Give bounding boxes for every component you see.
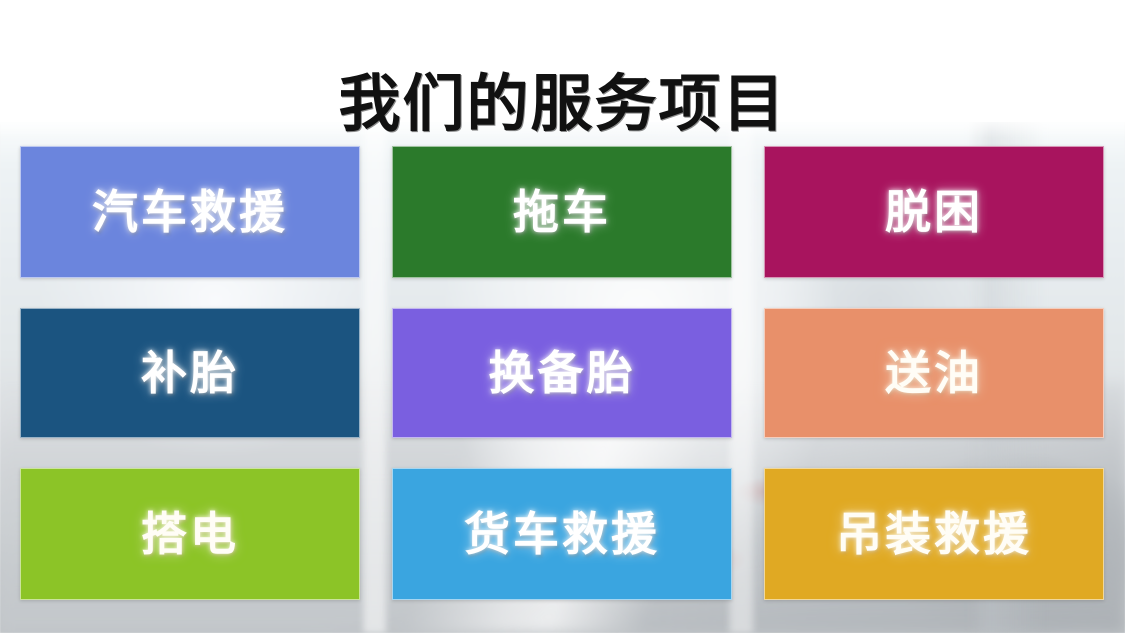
service-tile-label: 脱困: [885, 189, 983, 235]
service-tile[interactable]: 补胎: [20, 308, 360, 438]
service-tile[interactable]: 汽车救援: [20, 146, 360, 278]
service-tile-label: 货车救援: [464, 511, 660, 557]
service-tile[interactable]: 吊装救援: [764, 468, 1104, 600]
page-title: 我们的服务项目: [0, 62, 1125, 148]
service-tile[interactable]: 拖车: [392, 146, 732, 278]
service-tile-label: 补胎: [141, 350, 239, 396]
service-tile-label: 搭电: [141, 511, 239, 557]
service-tile[interactable]: 搭电: [20, 468, 360, 600]
service-tile-label: 汽车救援: [92, 189, 288, 235]
service-tile[interactable]: 换备胎: [392, 308, 732, 438]
service-grid: 汽车救援拖车脱困补胎换备胎送油搭电货车救援吊装救援: [20, 146, 1105, 603]
service-tile-label: 送油: [885, 350, 983, 396]
service-tile-label: 吊装救援: [836, 511, 1032, 557]
service-poster: 我们的服务项目 汽车救援拖车脱困补胎换备胎送油搭电货车救援吊装救援: [0, 0, 1125, 633]
service-tile[interactable]: 货车救援: [392, 468, 732, 600]
service-tile-label: 换备胎: [489, 350, 636, 396]
service-tile[interactable]: 送油: [764, 308, 1104, 438]
service-tile-label: 拖车: [513, 189, 611, 235]
service-tile[interactable]: 脱困: [764, 146, 1104, 278]
